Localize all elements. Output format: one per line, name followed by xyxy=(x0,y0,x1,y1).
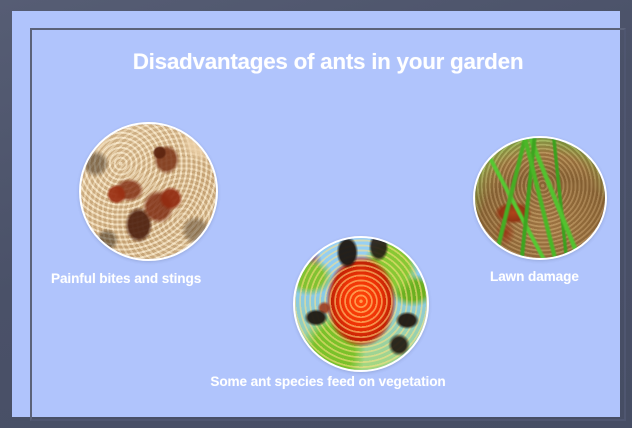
caption-vegetation-feeding: Some ant species feed on vegetation xyxy=(12,374,632,389)
caption-painful-bites: Painful bites and stings xyxy=(51,271,201,286)
ants-on-food-crumbs-image xyxy=(79,122,218,261)
caption-lawn-damage: Lawn damage xyxy=(490,269,579,284)
infographic-card: Disadvantages of ants in your garden Pai… xyxy=(0,0,632,428)
photo-ants-on-red-berry xyxy=(293,236,429,372)
ants-on-red-berry-image xyxy=(293,236,429,372)
card-background: Disadvantages of ants in your garden Pai… xyxy=(12,11,620,417)
page-title: Disadvantages of ants in your garden xyxy=(12,49,632,75)
photo-anthill-in-lawn xyxy=(473,136,607,260)
anthill-in-lawn-image xyxy=(473,136,607,260)
photo-ants-on-food-crumbs xyxy=(79,122,218,261)
